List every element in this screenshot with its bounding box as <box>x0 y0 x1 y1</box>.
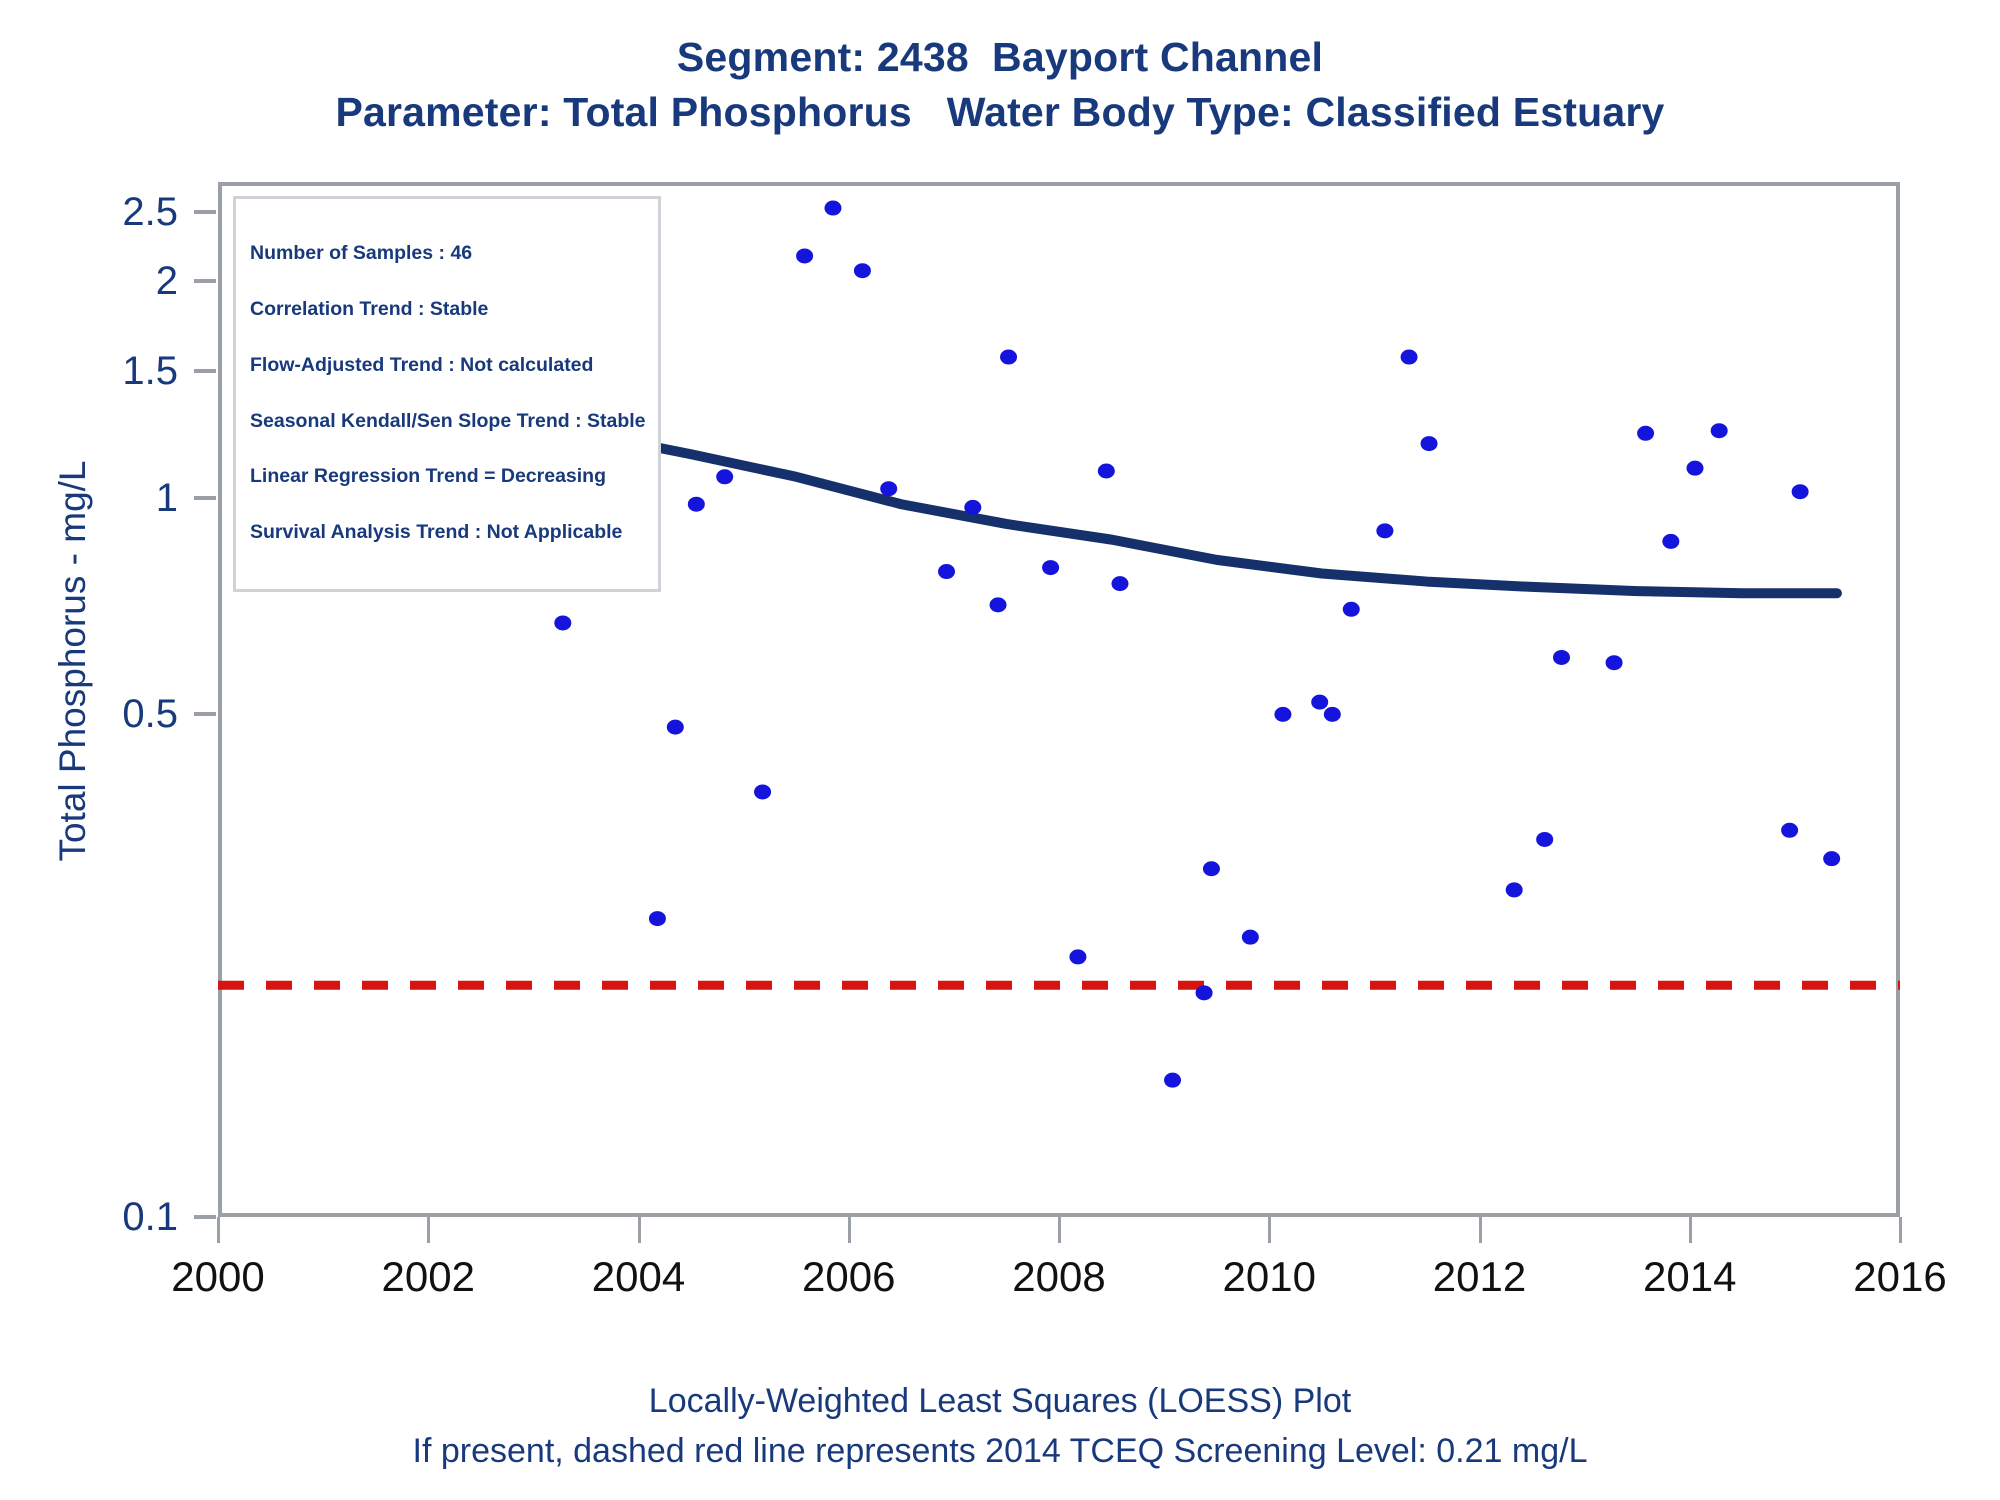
y-tick-label: 1.5 <box>28 351 178 391</box>
x-tick-mark-2014 <box>1689 1217 1692 1243</box>
data-point <box>1324 707 1341 722</box>
x-tick-label-2002: 2002 <box>328 1253 528 1301</box>
data-point <box>1343 602 1360 617</box>
chart-title-block: Segment: 2438 Bayport Channel Parameter:… <box>0 30 2000 140</box>
data-point <box>1401 350 1418 365</box>
data-point <box>854 263 871 278</box>
chart-title-line-1: Segment: 2438 Bayport Channel <box>0 30 2000 84</box>
x-tick-label-2004: 2004 <box>539 1253 739 1301</box>
data-point <box>1000 350 1017 365</box>
data-point <box>938 564 955 579</box>
y-tick-label: 0.1 <box>28 1197 178 1237</box>
data-point <box>1242 930 1259 945</box>
statistics-legend-box: Number of Samples : 46 Correlation Trend… <box>233 196 661 592</box>
x-tick-mark-2012 <box>1479 1217 1482 1243</box>
x-tick-mark-2000 <box>217 1217 220 1243</box>
y-tick-mark <box>194 369 216 373</box>
y-tick-mark <box>194 279 216 283</box>
data-point <box>1274 707 1291 722</box>
data-point <box>1711 423 1728 438</box>
x-tick-label-2010: 2010 <box>1169 1253 1369 1301</box>
x-tick-label-2000: 2000 <box>118 1253 318 1301</box>
data-point <box>1792 484 1809 499</box>
data-point <box>1781 823 1798 838</box>
y-tick-mark <box>194 712 216 716</box>
data-point <box>1662 534 1679 549</box>
y-tick-label: 2.5 <box>28 192 178 232</box>
x-tick-mark-2008 <box>1058 1217 1061 1243</box>
data-point <box>990 597 1007 612</box>
y-tick-mark <box>194 496 216 500</box>
x-tick-mark-2010 <box>1268 1217 1271 1243</box>
caption-loess-plot: Locally-Weighted Least Squares (LOESS) P… <box>0 1378 2000 1424</box>
y-tick-1: 1 <box>0 478 218 518</box>
data-point <box>1196 985 1213 1000</box>
data-point <box>1164 1073 1181 1088</box>
data-point <box>1098 464 1115 479</box>
y-tick-1-5: 1.5 <box>0 351 218 391</box>
y-tick-label: 0.5 <box>28 694 178 734</box>
x-tick-label-2008: 2008 <box>959 1253 1159 1301</box>
x-tick-label-2014: 2014 <box>1590 1253 1790 1301</box>
y-tick-0-5: 0.5 <box>0 694 218 734</box>
x-tick-label-2012: 2012 <box>1380 1253 1580 1301</box>
data-point <box>1311 695 1328 710</box>
data-point <box>667 720 684 735</box>
data-point <box>1042 560 1059 575</box>
data-point <box>880 481 897 496</box>
data-point <box>688 497 705 512</box>
data-point <box>649 911 666 926</box>
y-tick-label: 1 <box>28 478 178 518</box>
y-tick-2-5: 2.5 <box>0 192 218 232</box>
chart-title-line-2: Parameter: Total Phosphorus Water Body T… <box>0 84 2000 140</box>
stat-flow-adjusted-trend: Flow-Adjusted Trend : Not calculated <box>250 356 646 375</box>
stat-seasonal-kendall-trend: Seasonal Kendall/Sen Slope Trend : Stabl… <box>250 412 646 431</box>
x-tick-mark-2006 <box>848 1217 851 1243</box>
chart-page: Segment: 2438 Bayport Channel Parameter:… <box>0 0 2000 1500</box>
data-point <box>824 201 841 216</box>
data-point <box>1111 576 1128 591</box>
data-point <box>1421 436 1438 451</box>
data-point <box>1637 426 1654 441</box>
data-point <box>1687 461 1704 476</box>
data-point <box>1536 832 1553 847</box>
y-axis-title: Total Phosphorus - mg/L <box>52 311 94 1011</box>
data-point <box>1506 882 1523 897</box>
data-point <box>964 500 981 515</box>
x-tick-mark-2016 <box>1899 1217 1902 1243</box>
data-point <box>716 469 733 484</box>
x-tick-label-2006: 2006 <box>749 1253 949 1301</box>
y-tick-2: 2 <box>0 261 218 301</box>
caption-screening-level: If present, dashed red line represents 2… <box>0 1428 2000 1474</box>
y-tick-0-1: 0.1 <box>0 1197 218 1237</box>
stat-number-of-samples: Number of Samples : 46 <box>250 244 646 263</box>
x-tick-mark-2004 <box>638 1217 641 1243</box>
data-point <box>1069 949 1086 964</box>
data-point <box>1823 851 1840 866</box>
x-tick-mark-2002 <box>427 1217 430 1243</box>
data-point <box>554 615 571 630</box>
data-point <box>1376 523 1393 538</box>
data-point <box>1203 861 1220 876</box>
y-tick-mark <box>194 210 216 214</box>
data-point <box>1606 655 1623 670</box>
y-tick-mark <box>194 1215 216 1219</box>
y-tick-label: 2 <box>28 261 178 301</box>
stat-linear-regression-trend: Linear Regression Trend = Decreasing <box>250 467 646 486</box>
x-tick-label-2016: 2016 <box>1800 1253 2000 1301</box>
data-point <box>1553 650 1570 665</box>
data-point <box>796 248 813 263</box>
stat-survival-analysis-trend: Survival Analysis Trend : Not Applicable <box>250 523 646 542</box>
stat-correlation-trend: Correlation Trend : Stable <box>250 300 646 319</box>
data-point <box>754 784 771 799</box>
